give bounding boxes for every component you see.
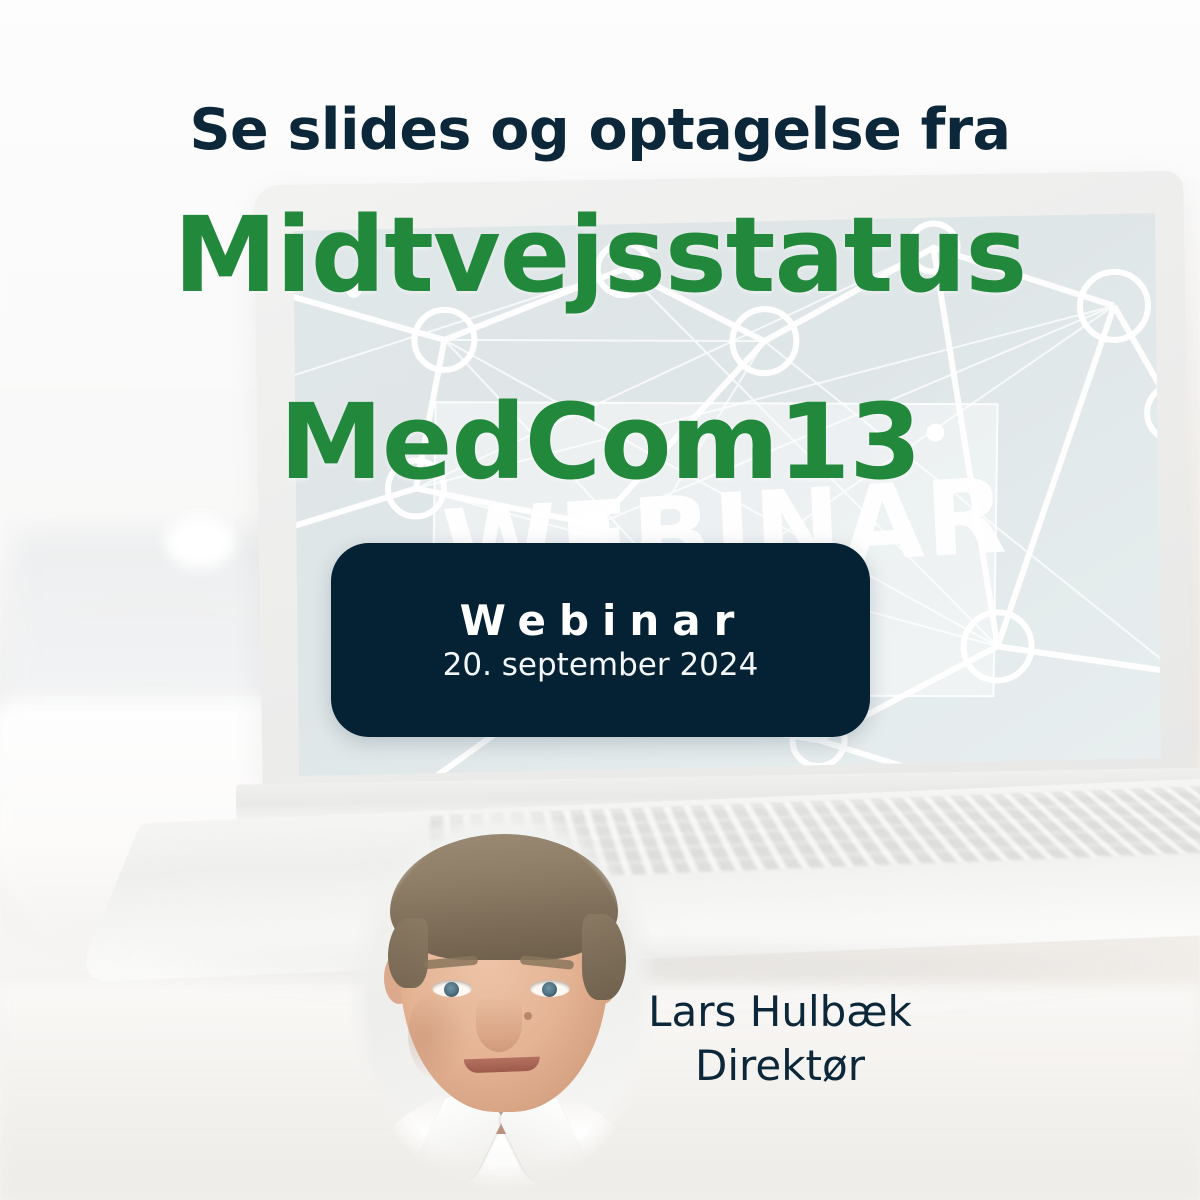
webinar-badge: Webinar 20. september 2024 [331, 543, 870, 737]
portrait-hair-left [388, 918, 428, 988]
speaker-caption: Lars Hulbæk Direktør [600, 985, 960, 1093]
portrait-mouth [464, 1057, 540, 1074]
portrait-iris-right [542, 982, 557, 997]
portrait-eye-right [530, 980, 570, 997]
portrait-eye-left [432, 980, 472, 997]
speaker-name: Lars Hulbæk [600, 985, 960, 1039]
portrait-mole [524, 1012, 532, 1020]
webinar-badge-title: Webinar [460, 598, 748, 644]
webinar-badge-date: 20. september 2024 [443, 648, 759, 682]
headline-kicker: Se slides og optagelse fra [0, 102, 1200, 159]
portrait-iris-left [444, 982, 459, 997]
headline-line-1: Midtvejsstatus [0, 203, 1200, 307]
headline-line-2: MedCom13 [0, 390, 1200, 494]
portrait-nose [476, 996, 522, 1052]
webinar-promo-poster: WEBINAR Se slides og optagelse fra Midtv… [0, 0, 1200, 1200]
portrait-cheek-shading [408, 990, 468, 1080]
speaker-role: Direktør [600, 1039, 960, 1093]
